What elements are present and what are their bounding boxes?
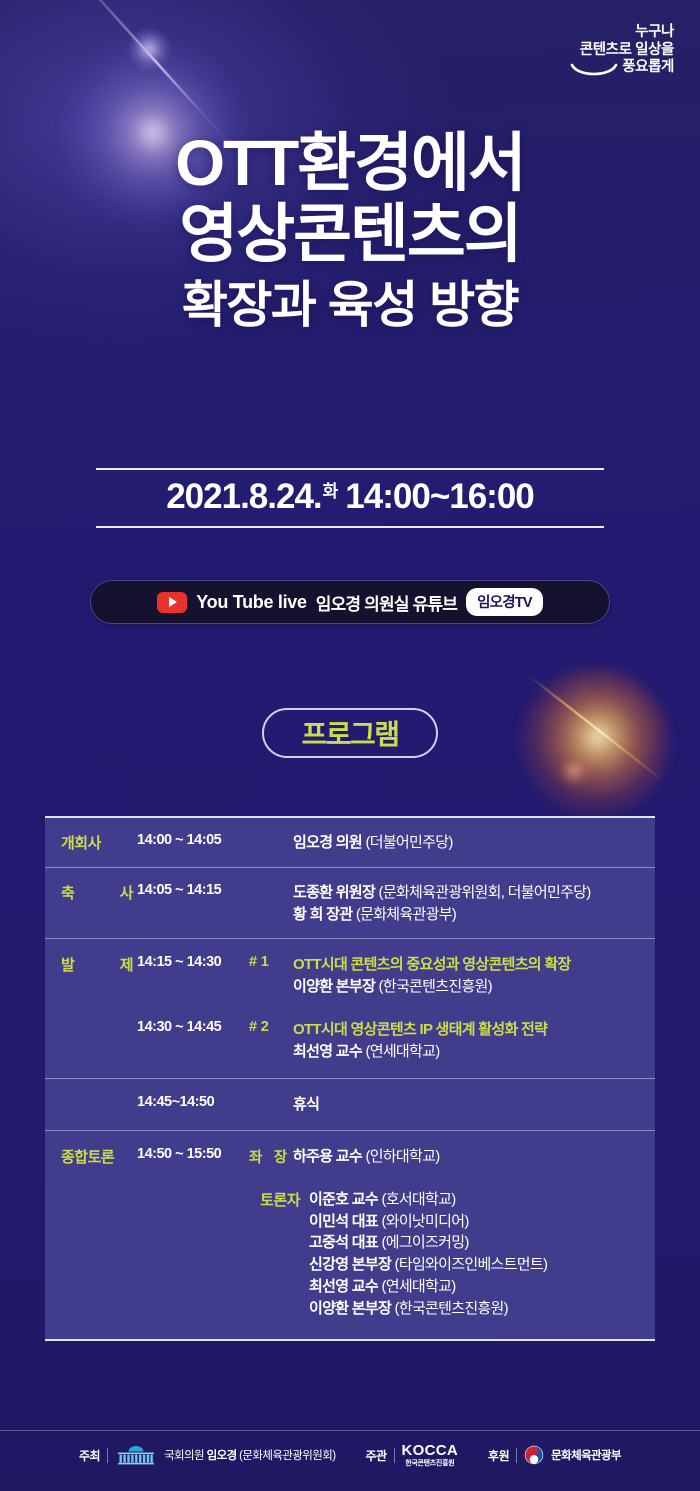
youtube-live-bar[interactable]: You Tube live 임오경 의원실 유튜브 임오경TV xyxy=(90,580,610,624)
footer-divider xyxy=(0,1430,700,1431)
row-entry: 이민석 대표 (와이낫미디어) xyxy=(309,1211,655,1233)
row-body: 임오경 의원 (더불어민주당) xyxy=(293,831,655,854)
row-body: OTT시대 콘텐츠의 중요성과 영상콘텐츠의 확장 이양환 본부장 (한국콘텐츠… xyxy=(293,953,655,998)
row-entry: 도종환 위원장 (문화체육관광위원회, 더불어민주당) xyxy=(293,882,655,904)
entry-name: 임오경 의원 xyxy=(293,834,362,851)
taegeuk-icon xyxy=(524,1445,544,1465)
event-time: 14:00~16:00 xyxy=(345,477,533,516)
row-label xyxy=(61,1018,137,1019)
row-time: 14:50 ~ 15:50 xyxy=(137,1145,249,1162)
entry-org: (문화체육관광위원회, 더불어민주당) xyxy=(379,884,591,901)
brand-line-1: 누구나 xyxy=(570,24,674,42)
row-entry: 최선영 교수 (연세대학교) xyxy=(309,1276,655,1298)
youtube-channel-badge: 임오경TV xyxy=(466,588,543,616)
orange-lens-flare-icon xyxy=(520,668,670,818)
row-entry: 최선영 교수 (연세대학교) xyxy=(293,1041,655,1063)
entry-name: 도종환 위원장 xyxy=(293,884,375,901)
poster-title: OTT환경에서 영상콘텐츠의 확장과 육성 방향 xyxy=(0,132,700,330)
row-number xyxy=(249,1093,293,1094)
row-label: 종합토론 xyxy=(61,1145,137,1167)
row-time: 14:05 ~ 14:15 xyxy=(137,881,249,898)
row-label: 축 사 xyxy=(61,881,137,903)
entry-org: (한국콘텐츠진흥원) xyxy=(395,1300,508,1317)
row-label xyxy=(61,1188,137,1189)
event-date: 2021.8.24. xyxy=(166,477,321,516)
entry-name: 이준호 교수 xyxy=(309,1191,378,1208)
orange-flare-orb-icon xyxy=(558,755,590,787)
row-sub-label-chair: 좌 장 xyxy=(249,1145,293,1167)
youtube-platform-label: You Tube live xyxy=(196,592,306,613)
row-entry: 이양환 본부장 (한국콘텐츠진흥원) xyxy=(309,1298,655,1320)
row-body: 이준호 교수 (호서대학교) 이민석 대표 (와이낫미디어) 고중석 대표 (에… xyxy=(309,1188,655,1320)
host-person: 임오경 xyxy=(207,1450,237,1462)
host-name: 국회의원 임오경 (문화체육관광위원회) xyxy=(164,1447,335,1463)
entry-org: (연세대학교) xyxy=(365,1043,439,1060)
table-row: 14:45~14:50 휴식 xyxy=(45,1079,655,1131)
row-entry-title: OTT시대 영상콘텐츠 IP 생태계 활성화 전략 xyxy=(293,1019,655,1041)
sponsor-name: 문화체육관광부 xyxy=(551,1447,621,1463)
title-line-3: 확장과 육성 방향 xyxy=(0,281,700,331)
row-body: 하주용 교수 (인하대학교) xyxy=(293,1145,655,1168)
kocca-subtext: 한국콘텐츠진흥원 xyxy=(402,1460,459,1467)
row-number: # 1 xyxy=(249,953,293,970)
orange-light-streak-icon xyxy=(529,676,664,782)
organizer-key-label: 주관 xyxy=(365,1447,386,1464)
entry-org: (와이낫미디어) xyxy=(381,1213,468,1230)
host-credit: 주최 국회의원 임오경 xyxy=(79,1445,335,1465)
title-line-2: 영상콘텐츠의 xyxy=(0,203,700,266)
footer-credits: 주최 국회의원 임오경 xyxy=(0,1443,700,1467)
smile-curve-icon xyxy=(570,63,618,79)
program-section-badge: 프로그램 xyxy=(262,708,438,758)
row-number xyxy=(249,831,293,832)
credit-divider xyxy=(107,1448,108,1463)
brand-line-3: 풍요롭게 xyxy=(622,59,674,75)
entry-org: (호서대학교) xyxy=(381,1191,455,1208)
row-number: # 2 xyxy=(249,1018,293,1035)
row-label xyxy=(61,1093,137,1094)
row-time xyxy=(137,1188,249,1189)
table-row: 14:30 ~ 14:45 # 2 OTT시대 영상콘텐츠 IP 생태계 활성화… xyxy=(45,1004,655,1080)
row-label: 개회사 xyxy=(61,831,137,853)
entry-name: 최선영 교수 xyxy=(309,1278,378,1295)
table-row: 발 제 14:15 ~ 14:30 # 1 OTT시대 콘텐츠의 중요성과 영상… xyxy=(45,939,655,1004)
row-time: 14:30 ~ 14:45 xyxy=(137,1018,249,1035)
row-entry: 이양환 본부장 (한국콘텐츠진흥원) xyxy=(293,976,655,998)
row-entry: 휴식 xyxy=(293,1094,655,1116)
row-entry: 임오경 의원 (더불어민주당) xyxy=(293,832,655,854)
youtube-channel-desc: 임오경 의원실 유튜브 xyxy=(316,590,457,615)
program-table: 개회사 14:00 ~ 14:05 임오경 의원 (더불어민주당) 축 사 14… xyxy=(45,816,655,1341)
credit-divider xyxy=(394,1448,395,1463)
entry-name: 하주용 교수 xyxy=(293,1148,362,1165)
brand-line-2: 콘텐츠로 일상을 xyxy=(570,42,674,60)
event-weekday: 화 xyxy=(323,482,339,501)
host-org: (문화체육관광위원회) xyxy=(239,1450,335,1462)
entry-name: 최선영 교수 xyxy=(293,1043,362,1060)
row-label: 발 제 xyxy=(61,953,137,975)
sponsor-credit: 후원 문화체육관광부 xyxy=(488,1445,621,1465)
row-time: 14:00 ~ 14:05 xyxy=(137,831,249,848)
chair-label-char-1: 좌 xyxy=(249,1146,262,1167)
row-label-char-2: 사 xyxy=(120,882,133,903)
row-entry: 고중석 대표 (에그이즈커밍) xyxy=(309,1232,655,1254)
table-row: 축 사 14:05 ~ 14:15 도종환 위원장 (문화체육관광위원회, 더불… xyxy=(45,868,655,940)
program-badge-label: 프로그램 xyxy=(301,713,398,753)
event-datetime: 2021.8.24.화14:00~16:00 xyxy=(96,477,604,517)
row-body: OTT시대 영상콘텐츠 IP 생태계 활성화 전략 최선영 교수 (연세대학교) xyxy=(293,1018,655,1063)
table-row: 토론자 이준호 교수 (호서대학교) 이민석 대표 (와이낫미디어) 고중석 대… xyxy=(45,1172,655,1340)
row-entry: 신강영 본부장 (타임와이즈인베스트먼트) xyxy=(309,1254,655,1276)
event-poster: 누구나 콘텐츠로 일상을 풍요롭게 OTT환경에서 영상콘텐츠의 확장과 육성 … xyxy=(0,0,700,1491)
row-entry-title: OTT시대 콘텐츠의 중요성과 영상콘텐츠의 확장 xyxy=(293,954,655,976)
organizer-credit: 주관 KOCCA 한국콘텐츠진흥원 xyxy=(365,1443,458,1467)
row-label-char-2: 제 xyxy=(120,954,133,975)
row-body: 휴식 xyxy=(293,1093,655,1116)
entry-org: (인하대학교) xyxy=(365,1148,439,1165)
chair-label-char-2: 장 xyxy=(274,1146,287,1167)
national-assembly-icon xyxy=(115,1445,157,1465)
row-entry: 황 희 장관 (문화체육관광부) xyxy=(293,904,655,926)
row-entry: 하주용 교수 (인하대학교) xyxy=(293,1146,655,1168)
row-number xyxy=(249,881,293,882)
panelist-label: 토론자 xyxy=(249,1188,309,1210)
row-entry: 이준호 교수 (호서대학교) xyxy=(309,1189,655,1211)
entry-name: 신강영 본부장 xyxy=(309,1256,391,1273)
event-date-band: 2021.8.24.화14:00~16:00 xyxy=(96,468,604,528)
credit-divider xyxy=(516,1448,517,1463)
entry-name: 이민석 대표 xyxy=(309,1213,378,1230)
entry-org: (연세대학교) xyxy=(381,1278,455,1295)
host-title: 국회의원 xyxy=(164,1450,204,1462)
youtube-play-icon xyxy=(157,592,187,613)
sponsor-key-label: 후원 xyxy=(488,1447,509,1464)
title-line-1: OTT환경에서 xyxy=(0,132,700,195)
brand-logo: 누구나 콘텐츠로 일상을 풍요롭게 xyxy=(570,24,674,77)
entry-name: 황 희 장관 xyxy=(293,906,352,923)
entry-name: 이양환 본부장 xyxy=(309,1300,391,1317)
row-label-char-1: 축 xyxy=(61,882,74,903)
row-time: 14:15 ~ 14:30 xyxy=(137,953,249,970)
entry-name: 이양환 본부장 xyxy=(293,978,375,995)
entry-org: (타임와이즈인베스트먼트) xyxy=(395,1256,548,1273)
entry-org: (한국콘텐츠진흥원) xyxy=(379,978,492,995)
kocca-wordmark: KOCCA xyxy=(402,1443,459,1458)
row-time: 14:45~14:50 xyxy=(137,1093,249,1110)
purple-flare-orb-icon xyxy=(128,28,170,70)
entry-org: (더불어민주당) xyxy=(365,834,452,851)
entry-org: (에그이즈커밍) xyxy=(381,1234,468,1251)
host-key-label: 주최 xyxy=(79,1447,100,1464)
table-row: 종합토론 14:50 ~ 15:50 좌 장 하주용 교수 (인하대학교) xyxy=(45,1131,655,1172)
kocca-logo: KOCCA 한국콘텐츠진흥원 xyxy=(402,1443,459,1467)
table-row: 개회사 14:00 ~ 14:05 임오경 의원 (더불어민주당) xyxy=(45,818,655,868)
entry-name: 고중석 대표 xyxy=(309,1234,378,1251)
row-label-char-1: 발 xyxy=(61,954,74,975)
row-body: 도종환 위원장 (문화체육관광위원회, 더불어민주당) 황 희 장관 (문화체육… xyxy=(293,881,655,926)
entry-org: (문화체육관광부) xyxy=(356,906,456,923)
